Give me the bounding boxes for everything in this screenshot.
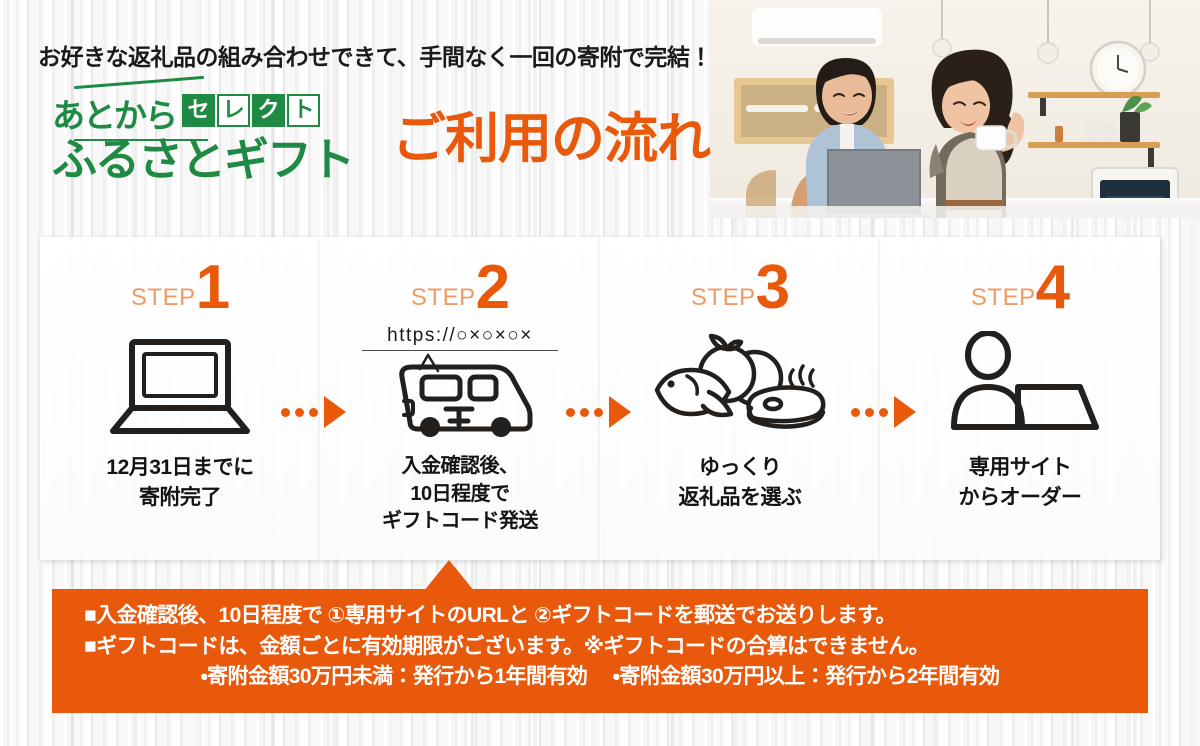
step-3-caption-line-2: 返礼品を選ぶ (679, 483, 802, 513)
step-3-number: 3 (756, 262, 789, 315)
step-1-caption-line-1: 12月31日までに (106, 453, 253, 483)
connector-dot (865, 408, 874, 417)
step-1-number: 1 (196, 262, 229, 315)
brand-logo-row-top: あとから セ レ ク ト (52, 88, 353, 132)
step-1-heading: STEP 1 (131, 263, 229, 315)
brand-rule-bottom-decoration (74, 139, 208, 141)
step-connector-3-to-4 (851, 396, 916, 428)
brand-select-boxes: セ レ ク ト (182, 94, 320, 127)
step-connector-2-to-3 (566, 396, 631, 428)
step-4-number: 4 (1036, 262, 1069, 315)
notice-banner-line-1: ■入金確認後、10日程度で ①専用サイトのURLと ②ギフトコードを郵送でお送り… (52, 601, 1148, 632)
connector-dot (594, 408, 603, 417)
step-2-heading: STEP 2 (411, 263, 509, 315)
person-at-laptop-icon (940, 327, 1100, 445)
brand-logo: あとから セ レ ク ト ふるさとギフト (52, 88, 353, 183)
banner-pointer-triangle-icon (423, 560, 475, 592)
step-2-caption-line-1: 入金確認後、 (382, 453, 538, 481)
notice-banner-line-2: ■ギフトコードは、金額ごとに有効期限がございます。※ギフトコードの合算はできませ… (52, 632, 1148, 663)
notice-banner: ■入金確認後、10日程度で ①専用サイトのURLと ②ギフトコードを郵送でお送り… (52, 589, 1148, 713)
page-tagline: お好きな返礼品の組み合わせできて、手間なく一回の寄附で完結！ (38, 38, 712, 72)
step-4-caption-line-1: 専用サイト (959, 453, 1082, 483)
arrow-right-icon (324, 396, 346, 428)
step-4-heading: STEP 4 (971, 263, 1069, 315)
step-1-caption-line-2: 寄附完了 (106, 483, 253, 513)
page-title: ご利用の流れ (392, 112, 710, 166)
arrow-right-icon (894, 396, 916, 428)
step-card-3: STEP 3 (600, 237, 880, 560)
brand-select-char-4: ト (287, 94, 320, 127)
notice-banner-line-3: ・寄附金額30万円未満：発行から1年間有効 ・寄附金額30万円以上：発行から2年… (52, 662, 1148, 693)
laptop-icon (105, 327, 255, 445)
step-2-word: STEP (411, 286, 476, 310)
step-connector-1-to-2 (281, 396, 346, 428)
step-4-caption-line-2: からオーダー (959, 483, 1082, 513)
connector-dot (309, 408, 318, 417)
kitchen-couple-photo (710, 0, 1200, 218)
step-3-caption-line-1: ゆっくり (679, 453, 802, 483)
connector-dot (281, 408, 290, 417)
brand-select-char-3: ク (252, 94, 285, 127)
postal-van-icon: https://○×○×○× (362, 317, 558, 445)
step-4-word: STEP (971, 286, 1036, 310)
step-card-4: STEP 4 専用サイト からオーダー (880, 237, 1160, 560)
step-2-caption: 入金確認後、 10日程度で ギフトコード発送 (382, 453, 538, 536)
step-3-caption: ゆっくり 返礼品を選ぶ (679, 453, 802, 513)
connector-dot (295, 408, 304, 417)
brand-furusato-gift-text: ふるさとギフト (52, 136, 353, 183)
step-2-number: 2 (476, 262, 509, 315)
food-fish-fruit-steak-icon (647, 327, 833, 445)
brand-select-char-1: セ (182, 94, 215, 127)
step-3-heading: STEP 3 (691, 263, 789, 315)
connector-dot (851, 408, 860, 417)
step-card-2: STEP 2 https://○×○×○× (320, 237, 600, 560)
connector-dot (566, 408, 575, 417)
connector-dot (879, 408, 888, 417)
step-1-caption: 12月31日までに 寄附完了 (106, 453, 253, 513)
connector-dot (580, 408, 589, 417)
arrow-right-icon (609, 396, 631, 428)
step-2-url-label: https://○×○×○× (387, 325, 533, 347)
brand-atokara-text: あとから (52, 99, 176, 132)
step-3-word: STEP (691, 286, 756, 310)
step-1-word: STEP (131, 286, 196, 310)
step-2-caption-line-3: ギフトコード発送 (382, 508, 538, 536)
step-card-1: STEP 1 12月31日までに 寄附完了 (40, 237, 320, 560)
brand-select-char-2: レ (217, 94, 250, 127)
step-2-caption-line-2: 10日程度で (382, 481, 538, 509)
infographic-page: お好きな返礼品の組み合わせできて、手間なく一回の寄附で完結！ あとから セ レ … (0, 0, 1200, 746)
step-4-caption: 専用サイト からオーダー (959, 453, 1082, 513)
